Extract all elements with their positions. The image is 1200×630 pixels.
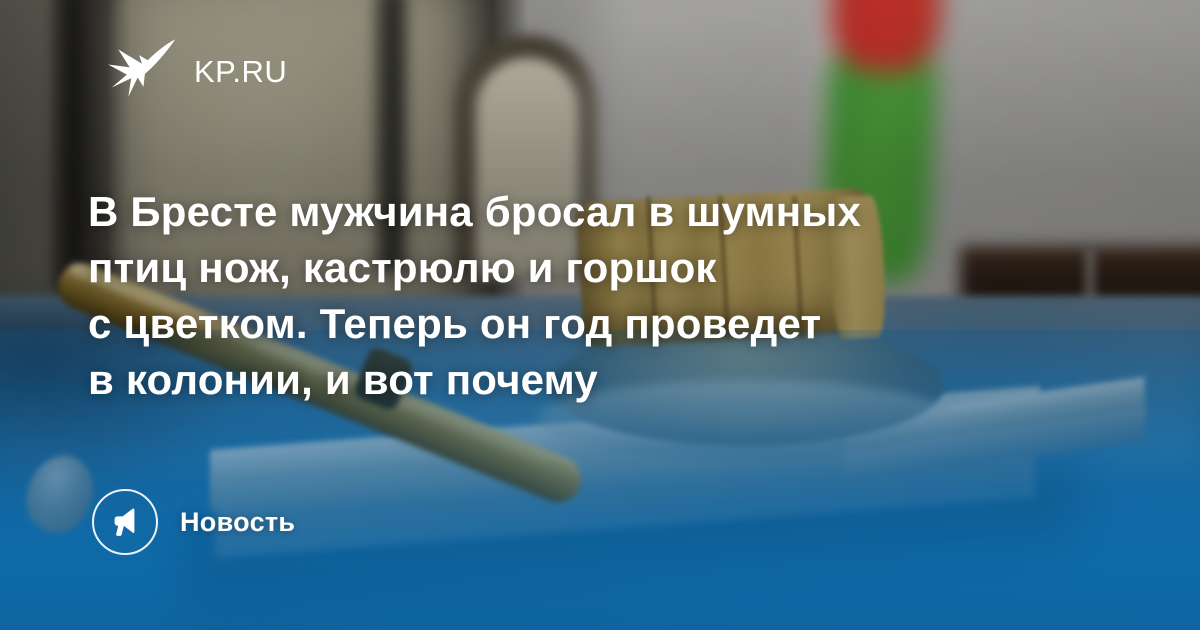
news-share-card: KP.RU В Бресте мужчина бросал в шумных п… <box>0 0 1200 630</box>
status-badge[interactable]: Новость <box>92 489 295 555</box>
swallow-bird-icon <box>106 36 178 106</box>
headline-line-3: с цветком. Теперь он год проведет <box>88 296 1038 352</box>
brand-name: KP.RU <box>194 56 287 87</box>
headline-line-1: В Бресте мужчина бросал в шумных <box>88 184 1038 240</box>
brand-lockup[interactable]: KP.RU <box>106 36 287 106</box>
megaphone-icon <box>92 489 158 555</box>
status-badge-label: Новость <box>180 507 295 538</box>
headline-line-2: птиц нож, кастрюлю и горшок <box>88 240 1038 296</box>
page-title: В Бресте мужчина бросал в шумных птиц но… <box>88 184 1038 408</box>
headline-line-4: в колонии, и вот почему <box>88 352 1038 408</box>
